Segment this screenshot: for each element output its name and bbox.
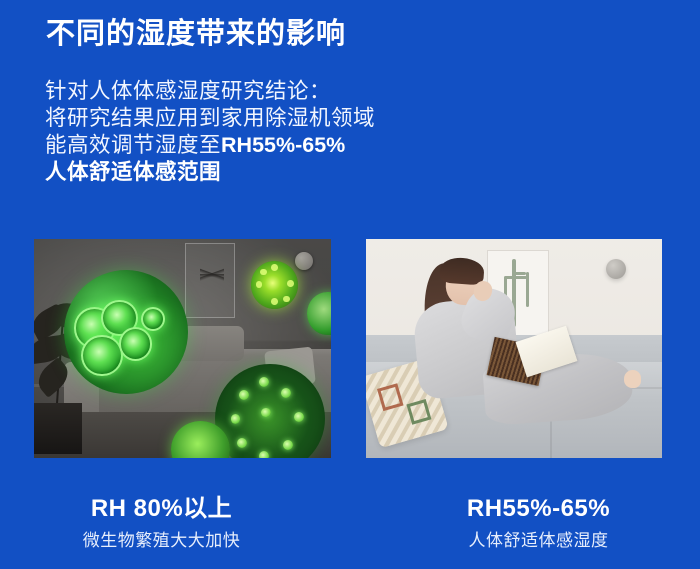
microbe-spike xyxy=(271,264,278,271)
body-line-4: 人体舒适体感范围 xyxy=(45,159,645,186)
microbe-spike xyxy=(231,414,241,424)
page-title: 不同的湿度带来的影响 xyxy=(46,17,346,52)
caption-right-sub: 人体舒适体感湿度 xyxy=(377,530,700,552)
body-line-3-normal: 能高效调节湿度至 xyxy=(45,133,221,157)
microbe-spike xyxy=(237,438,247,448)
caption-row: RH 80%以上 微生物繁殖大大加快 RH55%-65% 人体舒适体感湿度 xyxy=(0,494,700,552)
body-copy: 针对人体体感湿度研究结论： 将研究结果应用到家用除湿机领域 能高效调节湿度至RH… xyxy=(45,78,645,186)
wall-art-branches xyxy=(200,246,224,305)
caption-right: RH55%-65% 人体舒适体感湿度 xyxy=(359,494,700,552)
microbe-spike xyxy=(259,377,269,387)
body-line-2: 将研究结果应用到家用除湿机领域 xyxy=(45,105,645,132)
plant-leaf xyxy=(34,357,74,398)
woman-reading xyxy=(366,239,662,458)
caption-left: RH 80%以上 微生物繁殖大大加快 xyxy=(0,494,359,552)
microbe-spike xyxy=(283,296,290,303)
foot xyxy=(624,370,642,388)
microbe-spike xyxy=(239,390,249,400)
microbe-spike xyxy=(259,451,269,458)
microbe-sphere-small xyxy=(251,261,299,309)
plant-pot xyxy=(34,403,82,454)
microbe-spike xyxy=(256,281,263,288)
microbe-spike xyxy=(294,412,304,422)
body-line-1: 针对人体体感湿度研究结论： xyxy=(45,78,645,105)
humidity-comparison-poster: 不同的湿度带来的影响 针对人体体感湿度研究结论： 将研究结果应用到家用除湿机领域… xyxy=(0,0,700,569)
microbe-cell xyxy=(141,307,165,331)
photo-high-humidity xyxy=(34,239,331,458)
microbe-spike xyxy=(260,269,267,276)
caption-left-sub: 微生物繁殖大大加快 xyxy=(0,530,323,552)
scene-dark-room xyxy=(34,239,331,458)
microbe-spike xyxy=(283,440,293,450)
microbe-cell xyxy=(81,335,122,376)
microbe-spike xyxy=(261,408,271,418)
caption-right-main: RH55%-65% xyxy=(377,494,700,524)
photo-comfort-humidity xyxy=(366,239,662,458)
body-line-3: 能高效调节湿度至RH55%-65% xyxy=(45,132,645,159)
microbe-spike xyxy=(287,280,294,287)
microbe-spike xyxy=(271,298,278,305)
microbe-cell xyxy=(119,327,153,361)
caption-left-main: RH 80%以上 xyxy=(0,494,323,524)
scene-bright-room xyxy=(366,239,662,458)
microbe-spike xyxy=(281,388,291,398)
microbe-sphere-large xyxy=(64,270,189,395)
body-line-3-highlight: RH55%-65% xyxy=(221,133,345,157)
